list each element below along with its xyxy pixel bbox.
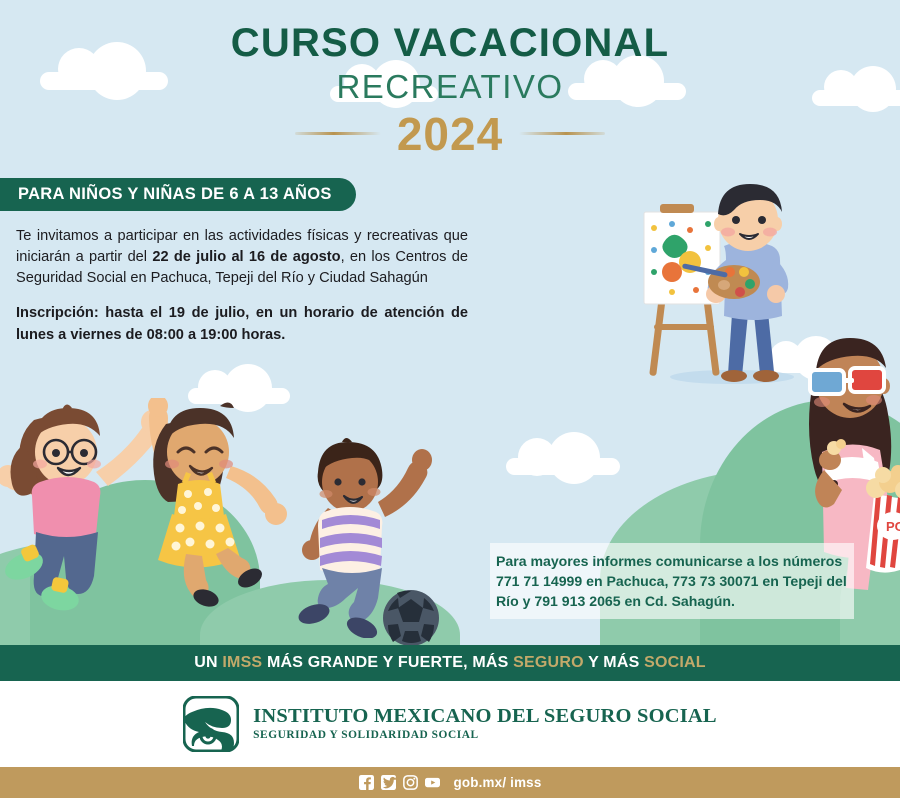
- imss-logo-text: INSTITUTO MEXICANO DEL SEGURO SOCIAL SEG…: [253, 705, 717, 743]
- twitter-icon[interactable]: [381, 775, 396, 790]
- imss-logo-block: INSTITUTO MEXICANO DEL SEGURO SOCIAL SEG…: [0, 681, 900, 767]
- poster-canvas: CURSO VACACIONAL RECREATIVO 2024 PARA NI…: [0, 0, 900, 798]
- imss-emblem-icon: [183, 696, 239, 752]
- facebook-icon[interactable]: [359, 775, 374, 790]
- page-title-line2: RECREATIVO: [0, 70, 900, 105]
- body-copy: Te invitamos a participar en las activid…: [16, 226, 468, 346]
- youtube-icon[interactable]: [425, 775, 440, 790]
- tagline-gold-imss: IMSS: [222, 654, 262, 671]
- imss-institution-tagline: SEGURIDAD Y SOLIDARIDAD SOCIAL: [253, 729, 717, 743]
- year-rule-left: [295, 132, 381, 135]
- instagram-icon[interactable]: [403, 775, 418, 790]
- body-p2-text: Inscripción: hasta el 19 de julio, en un…: [16, 305, 468, 342]
- year-row: 2024: [0, 111, 900, 157]
- body-p1-dates: 22 de julio al 16 de agosto: [152, 249, 340, 265]
- social-footer-bar: gob.mx/ imss: [0, 767, 900, 798]
- body-paragraph-2: Inscripción: hasta el 19 de julio, en un…: [16, 303, 468, 345]
- year-rule-right: [519, 132, 605, 135]
- tagline-seg2: MÁS GRANDE Y FUERTE, MÁS: [262, 654, 513, 671]
- page-title-line1: CURSO VACACIONAL: [0, 22, 900, 64]
- imss-institution-name: INSTITUTO MEXICANO DEL SEGURO SOCIAL: [253, 705, 717, 729]
- page-title-year: 2024: [397, 111, 503, 157]
- age-badge: PARA NIÑOS Y NIÑAS DE 6 A 13 AÑOS: [0, 178, 356, 211]
- contact-info-text: Para mayores informes comunicarse a los …: [496, 553, 847, 609]
- gob-mx-url[interactable]: gob.mx/ imss: [454, 775, 542, 790]
- contact-info-panel: Para mayores informes comunicarse a los …: [490, 543, 854, 619]
- body-paragraph-1: Te invitamos a participar en las activid…: [16, 226, 468, 289]
- tagline-text: UN IMSS MÁS GRANDE Y FUERTE, MÁS SEGURO …: [194, 654, 706, 672]
- tagline-gold-seguro: SEGURO: [513, 654, 584, 671]
- tagline-bar: UN IMSS MÁS GRANDE Y FUERTE, MÁS SEGURO …: [0, 645, 900, 681]
- tagline-seg3: Y MÁS: [584, 654, 644, 671]
- tagline-seg1: UN: [194, 654, 222, 671]
- tagline-gold-social: SOCIAL: [644, 654, 706, 671]
- title-block: CURSO VACACIONAL RECREATIVO 2024: [0, 0, 900, 157]
- age-badge-label: PARA NIÑOS Y NIÑAS DE 6 A 13 AÑOS: [18, 185, 332, 204]
